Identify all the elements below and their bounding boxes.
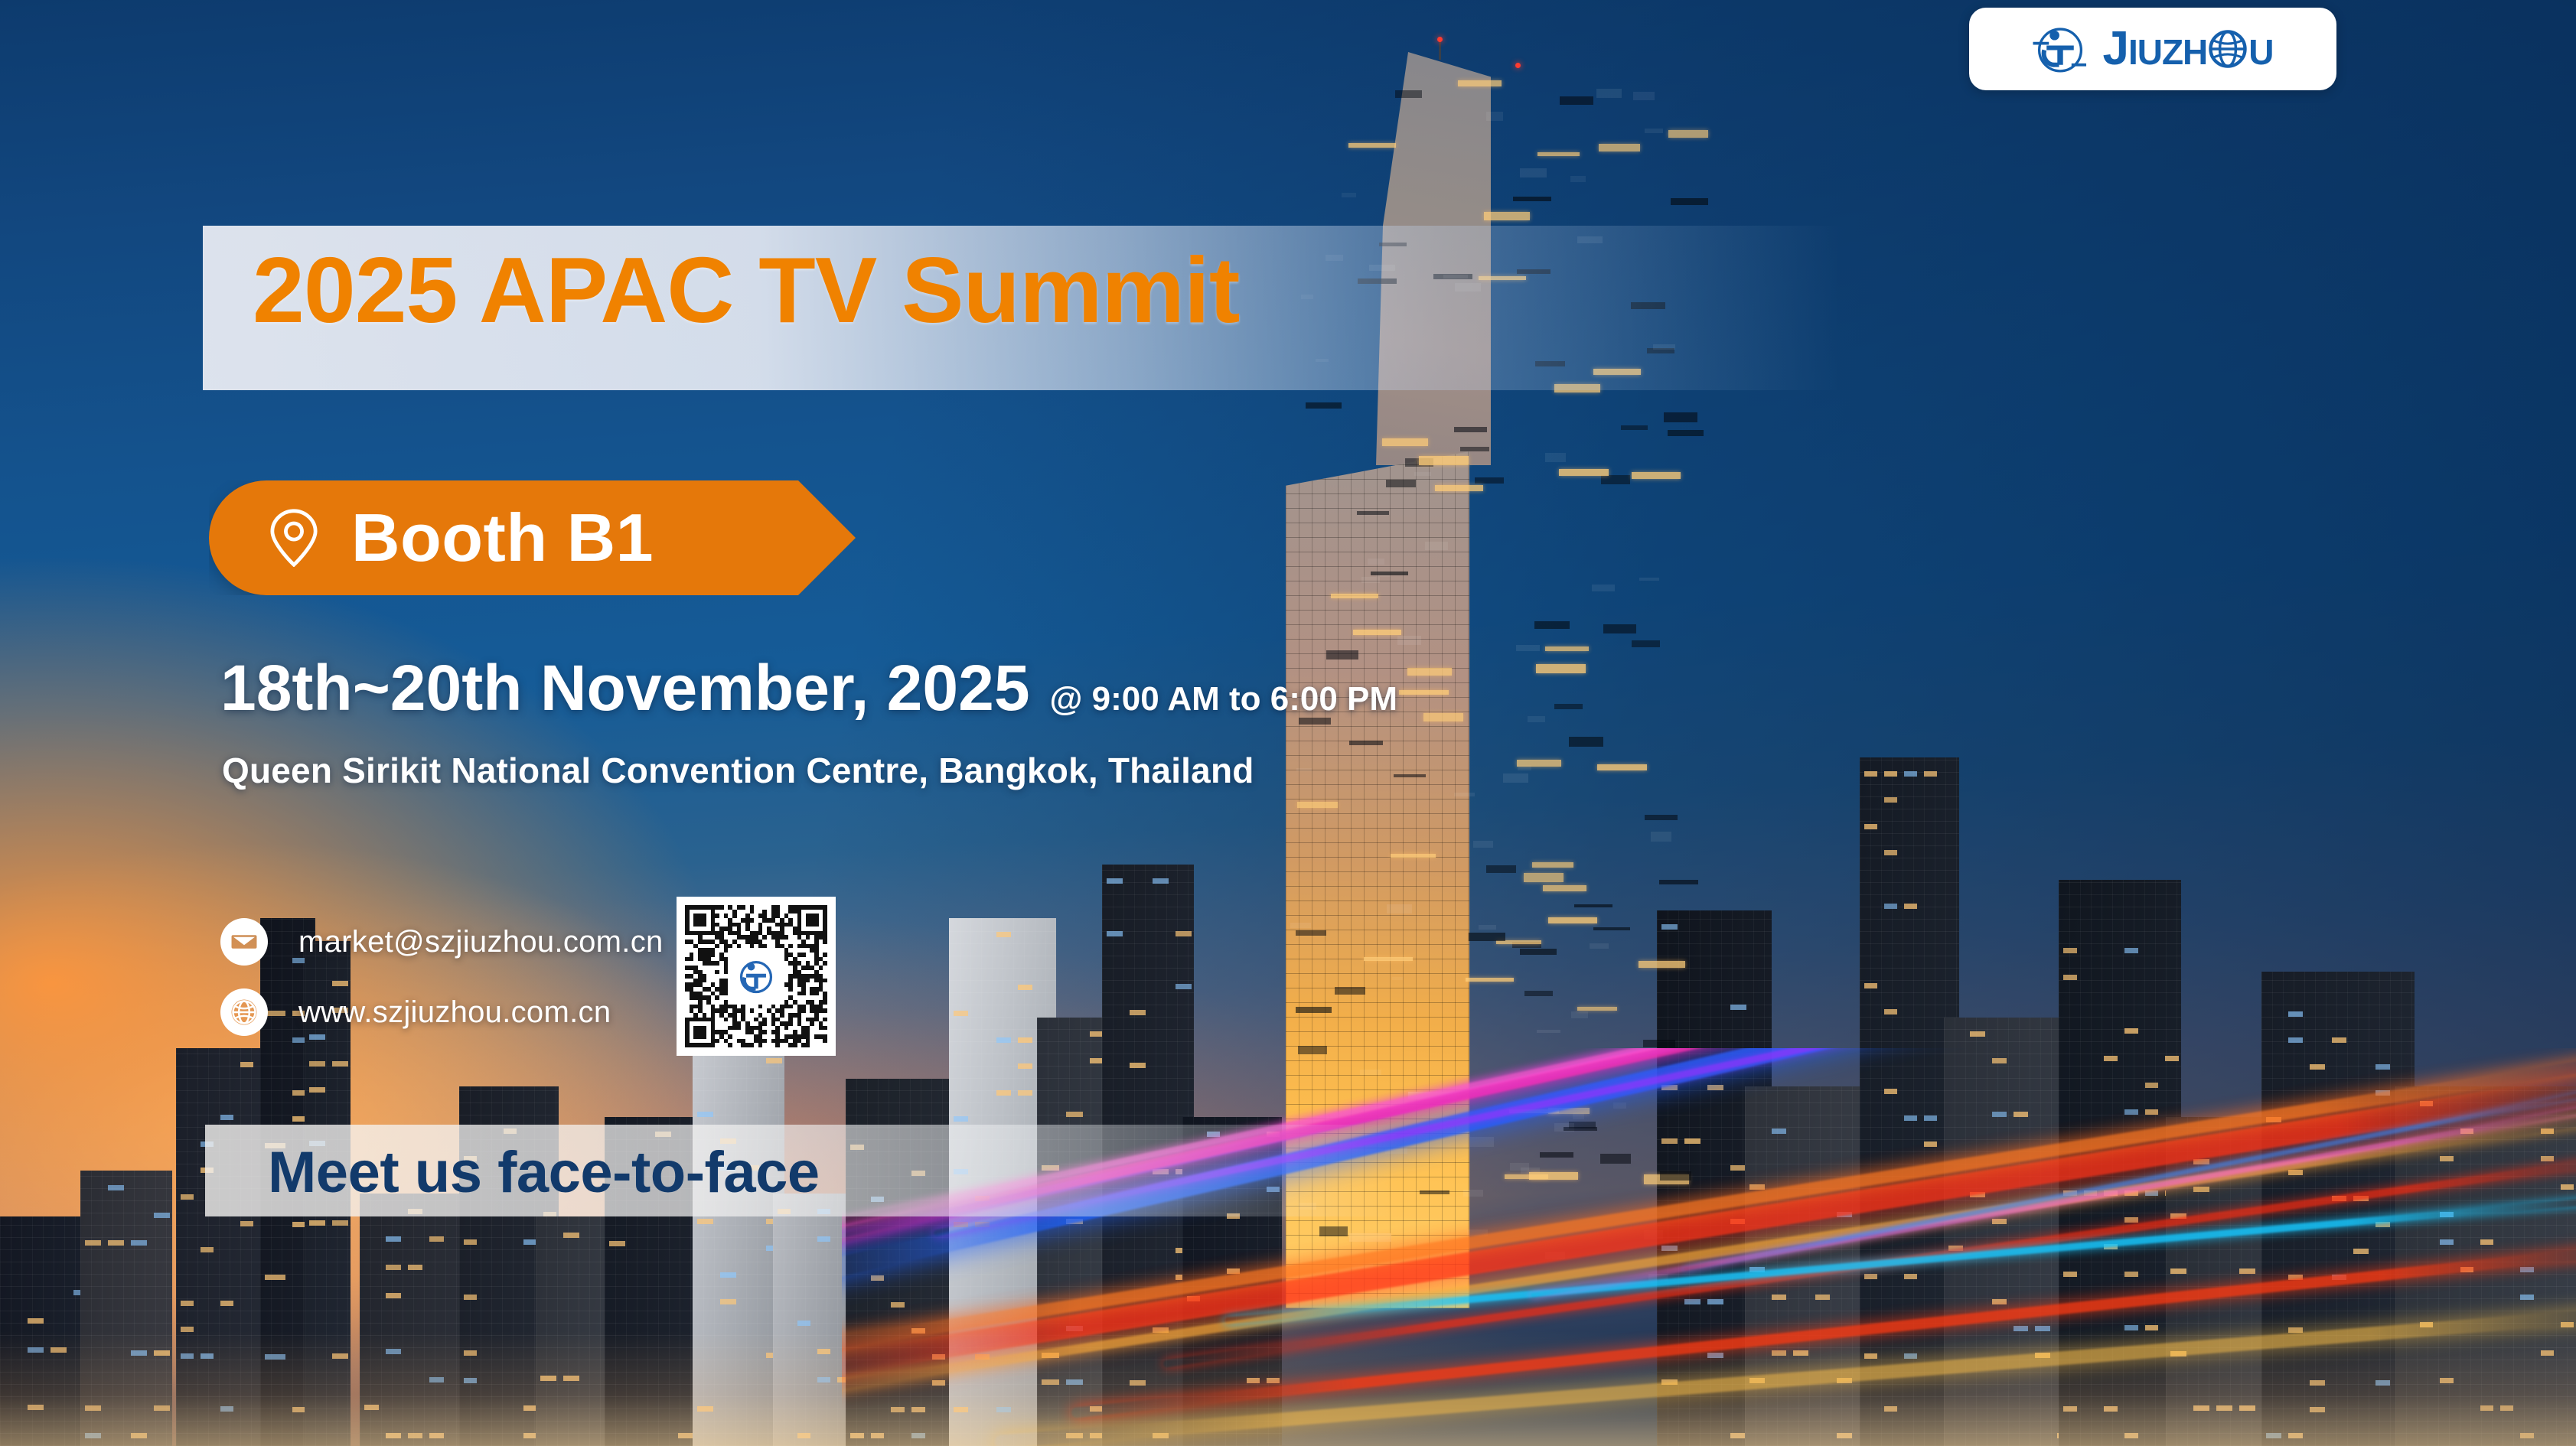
banner-content: JIUZH U 2025 APAC TV Summit Booth B1	[0, 0, 2576, 1446]
globe-icon	[220, 988, 268, 1036]
jiuzhou-person-icon	[735, 956, 777, 997]
contact-website: www.szjiuzhou.com.cn	[298, 995, 611, 1030]
logo-word-u: U	[2248, 25, 2273, 73]
logo-wordmark: JIUZH U	[2102, 25, 2273, 73]
page-title: 2025 APAC TV Summit	[253, 243, 1239, 337]
contact-email: market@szjiuzhou.com.cn	[298, 925, 664, 959]
booth-badge-label: Booth B1	[351, 504, 654, 572]
jiuzhou-logo-chip[interactable]: JIUZH U	[1969, 8, 2336, 90]
event-time: @ 9:00 AM to 6:00 PM	[1050, 682, 1397, 716]
contact-row-email[interactable]: market@szjiuzhou.com.cn	[220, 907, 664, 977]
event-dates: 18th~20th November, 2025	[220, 656, 1030, 720]
jiuzhou-person-circle-icon	[2032, 21, 2089, 77]
contact-row-website[interactable]: www.szjiuzhou.com.cn	[220, 977, 664, 1047]
booth-badge[interactable]: Booth B1	[209, 480, 856, 595]
logo-word-jiuzh: JIUZH	[2102, 25, 2207, 73]
qr-code[interactable]	[677, 897, 836, 1056]
location-pin-icon	[269, 509, 319, 567]
contact-list: market@szjiuzhou.com.cn www.szjiuzhou.co…	[220, 907, 664, 1047]
event-date-row: 18th~20th November, 2025 @ 9:00 AM to 6:…	[220, 656, 1397, 720]
footer-tagline: Meet us face-to-face	[268, 1144, 820, 1202]
qr-center-logo	[728, 948, 784, 1005]
envelope-icon	[220, 918, 268, 966]
event-promo-banner: JIUZH U 2025 APAC TV Summit Booth B1	[0, 0, 2576, 1446]
event-venue: Queen Sirikit National Convention Centre…	[222, 750, 1254, 791]
globe-icon	[2208, 29, 2248, 69]
